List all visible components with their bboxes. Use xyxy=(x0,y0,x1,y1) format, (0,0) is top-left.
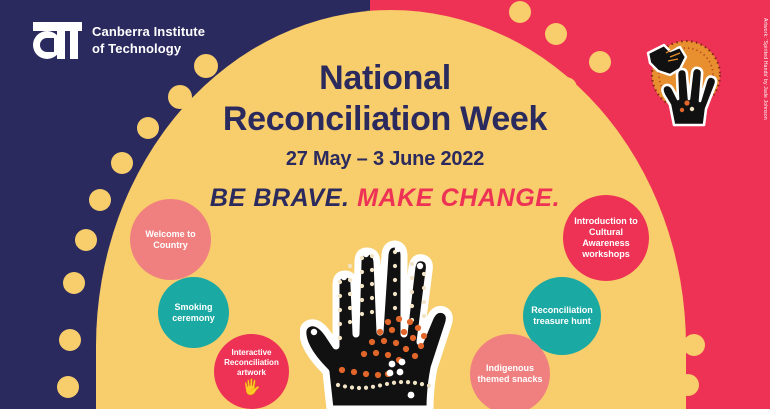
decorative-dot xyxy=(57,376,79,398)
artwork-credit: Artwork: 'Spirited Hands' by Jade Johnso… xyxy=(762,18,768,120)
bubble-interactive-artwork-label: Interactive Reconciliation artwork xyxy=(218,348,285,377)
dot-painting-hand xyxy=(300,222,480,409)
cit-logo-mark-icon xyxy=(33,22,82,59)
reconciliation-week-poster: Canberra Institute of Technology Nationa… xyxy=(0,0,770,409)
decorative-dot xyxy=(75,229,97,251)
bubble-cultural-workshops-label: Introduction to Cultural Awareness works… xyxy=(567,216,645,260)
cit-logo-line1: Canberra Institute xyxy=(92,24,205,40)
bubble-smoking-ceremony[interactable]: Smoking ceremony xyxy=(158,277,229,348)
decorative-dot xyxy=(651,272,673,294)
cit-logo: Canberra Institute of Technology xyxy=(33,22,205,59)
bubble-indigenous-snacks[interactable]: Indigenous themed snacks xyxy=(470,334,550,409)
bubble-interactive-artwork[interactable]: Interactive Reconciliation artwork 🖐 xyxy=(214,334,289,409)
hands-icon: 🖐 xyxy=(242,380,261,395)
cit-logo-line2: of Technology xyxy=(92,41,205,57)
bubble-treasure-hunt-label: Reconciliation treasure hunt xyxy=(527,305,597,327)
decorative-dot xyxy=(677,374,699,396)
tagline-make-change: MAKE CHANGE. xyxy=(357,184,560,212)
bubble-indigenous-snacks-label: Indigenous themed snacks xyxy=(474,363,546,385)
indigenous-hands-artwork xyxy=(640,17,728,135)
decorative-dot xyxy=(545,23,567,45)
decorative-dot xyxy=(683,334,705,356)
decorative-dot xyxy=(63,272,85,294)
bubble-welcome-to-country-label: Welcome to Country xyxy=(134,229,207,251)
event-dates: 27 May – 3 June 2022 xyxy=(0,148,770,171)
decorative-dot xyxy=(59,329,81,351)
tagline-be-brave: BE BRAVE. xyxy=(210,184,350,212)
campaign-tagline: BE BRAVE. MAKE CHANGE. xyxy=(0,184,770,213)
decorative-dot xyxy=(509,1,531,23)
cit-logo-text: Canberra Institute of Technology xyxy=(92,24,205,57)
bubble-smoking-ceremony-label: Smoking ceremony xyxy=(162,302,225,324)
